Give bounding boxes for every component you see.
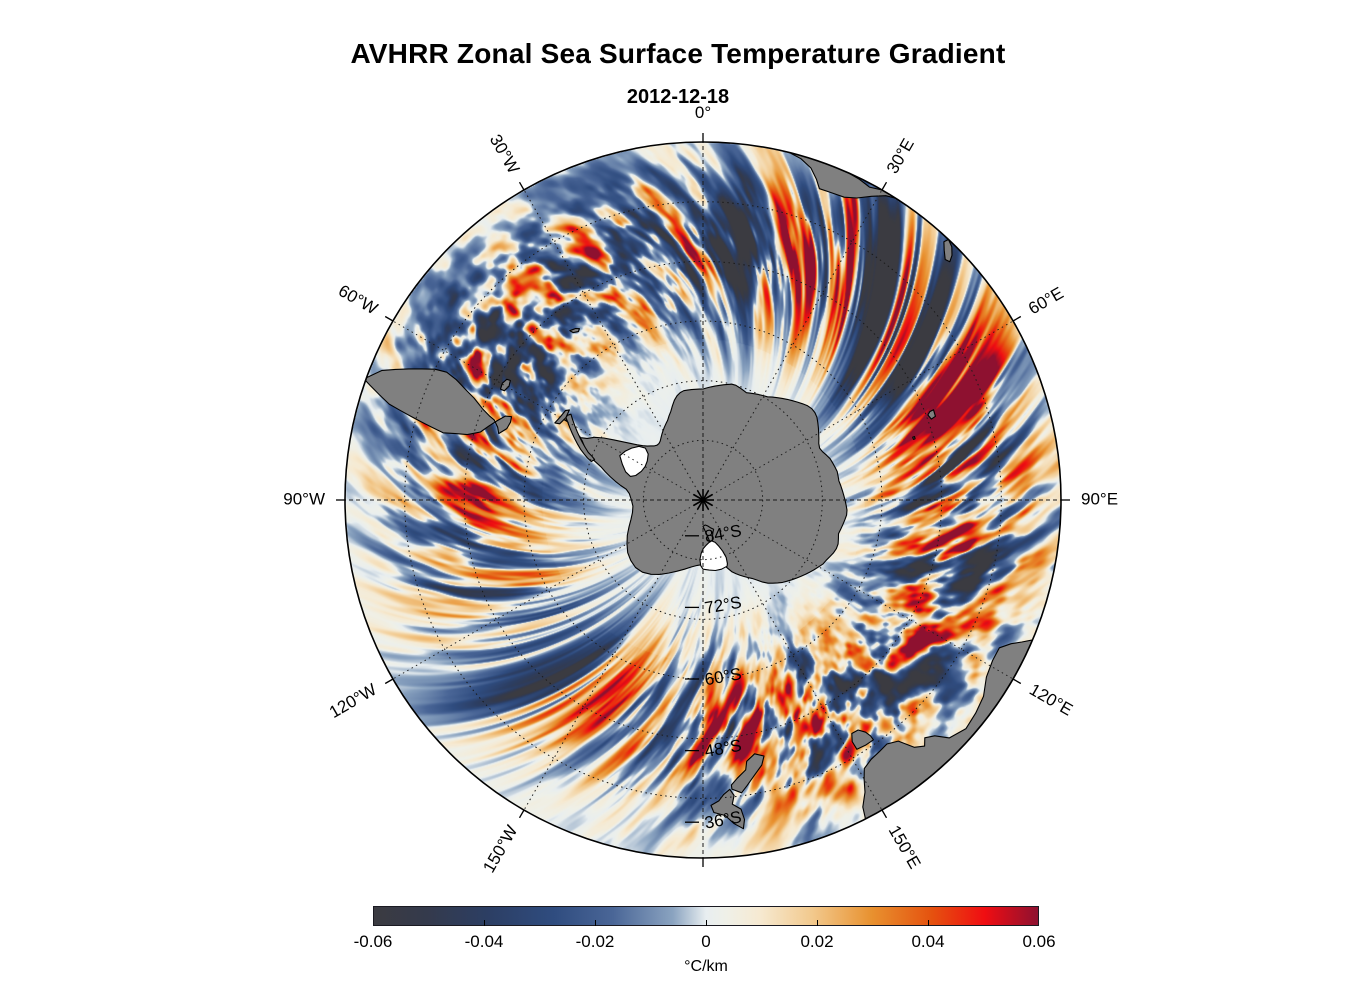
colorbar-tick-label: 0.06 bbox=[1022, 932, 1055, 952]
longitude-tick bbox=[385, 317, 393, 322]
longitude-label: 30°W bbox=[486, 131, 523, 177]
polar-map-svg: 0°30°E60°E90°E120°E150°E180°W150°W120°W9… bbox=[0, 0, 1356, 880]
polar-map: 0°30°E60°E90°E120°E150°E180°W150°W120°W9… bbox=[0, 0, 1356, 880]
longitude-tick bbox=[882, 810, 887, 818]
colorbar-tick-label: 0 bbox=[701, 932, 710, 952]
colorbar-tick bbox=[484, 920, 485, 926]
longitude-label: 150°W bbox=[479, 822, 521, 876]
longitude-label: 90°E bbox=[1081, 489, 1118, 508]
colorbar-tick-label: 0.02 bbox=[800, 932, 833, 952]
colorbar-unit-label: °C/km bbox=[373, 958, 1039, 976]
longitude-tick bbox=[1013, 317, 1021, 322]
longitude-tick bbox=[520, 810, 525, 818]
colorbar-tick bbox=[928, 920, 929, 926]
colorbar-tick-label: 0.04 bbox=[911, 932, 944, 952]
longitude-label: 60°E bbox=[1025, 283, 1067, 318]
colorbar-tick-label: -0.04 bbox=[465, 932, 504, 952]
longitude-label: 0° bbox=[695, 103, 711, 122]
colorbar-tick-label: -0.06 bbox=[354, 932, 393, 952]
colorbar-tick bbox=[817, 920, 818, 926]
colorbar[interactable]: -0.06-0.04-0.0200.020.040.06 bbox=[373, 906, 1039, 926]
colorbar-tick bbox=[706, 920, 707, 926]
heard-island bbox=[913, 437, 915, 440]
longitude-label: 150°E bbox=[885, 822, 925, 872]
longitude-label: 180°W bbox=[677, 879, 728, 880]
longitude-label: 60°W bbox=[335, 281, 381, 318]
longitude-label: 120°W bbox=[326, 680, 380, 722]
colorbar-tick bbox=[595, 920, 596, 926]
longitude-tick bbox=[385, 679, 393, 684]
longitude-tick bbox=[882, 182, 887, 190]
longitude-label: 30°E bbox=[883, 135, 918, 177]
longitude-label: 120°E bbox=[1026, 680, 1076, 720]
longitude-label: 90°W bbox=[283, 489, 325, 508]
colorbar-tick-label: -0.02 bbox=[576, 932, 615, 952]
figure-canvas: AVHRR Zonal Sea Surface Temperature Grad… bbox=[0, 0, 1356, 1000]
longitude-tick bbox=[1013, 679, 1021, 684]
longitude-tick bbox=[520, 182, 525, 190]
